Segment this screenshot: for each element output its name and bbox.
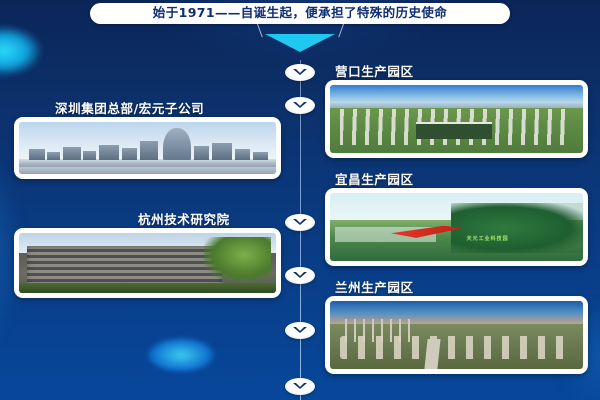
left-item-photo-2 xyxy=(19,233,276,293)
banner-leg-right xyxy=(338,24,344,37)
right-item-label-2: 宜昌生产园区 xyxy=(335,174,414,187)
left-item-label-1: 深圳集团总部/宏元子公司 xyxy=(55,103,204,116)
chevron-up-icon xyxy=(293,327,307,333)
timeline-node-6[interactable] xyxy=(285,378,315,395)
chevron-up-icon xyxy=(293,219,307,225)
right-item-card-2[interactable]: 天元工业科技园 xyxy=(325,188,588,266)
infographic-root: 始于1971——自诞生起，便承担了特殊的历史使命 深圳集团总部/宏元子公司 xyxy=(0,0,600,400)
right-item-photo-2: 天元工业科技园 xyxy=(330,193,583,261)
cyan-glow-bottom-icon xyxy=(148,338,214,372)
chevron-up-icon xyxy=(293,272,307,278)
timeline-node-4[interactable] xyxy=(285,267,315,284)
header-banner: 始于1971——自诞生起，便承担了特殊的历史使命 xyxy=(90,3,510,24)
photo-sign-text: 天元工业科技园 xyxy=(467,235,509,242)
left-item-card-1[interactable] xyxy=(14,117,281,179)
left-item-card-2[interactable] xyxy=(14,228,281,298)
banner-title: 始于1971——自诞生起，便承担了特殊的历史使命 xyxy=(153,7,447,20)
banner-down-arrow-icon xyxy=(265,34,335,52)
timeline-node-5[interactable] xyxy=(285,322,315,339)
header-banner-group: 始于1971——自诞生起，便承担了特殊的历史使命 xyxy=(0,0,600,46)
chevron-up-icon xyxy=(293,69,307,75)
chevron-up-icon xyxy=(293,102,307,108)
right-item-card-3[interactable] xyxy=(325,296,588,374)
timeline-node-1[interactable] xyxy=(285,64,315,81)
left-item-photo-1 xyxy=(19,122,276,174)
left-item-label-2: 杭州技术研究院 xyxy=(138,214,230,227)
timeline-node-3[interactable] xyxy=(285,214,315,231)
right-item-photo-1 xyxy=(330,85,583,153)
banner-leg-left xyxy=(257,24,263,37)
right-item-photo-3 xyxy=(330,301,583,369)
timeline-node-2[interactable] xyxy=(285,97,315,114)
right-item-label-3: 兰州生产园区 xyxy=(335,282,414,295)
right-item-card-1[interactable] xyxy=(325,80,588,158)
right-item-label-1: 营口生产园区 xyxy=(335,66,414,79)
chevron-up-icon xyxy=(293,383,307,389)
